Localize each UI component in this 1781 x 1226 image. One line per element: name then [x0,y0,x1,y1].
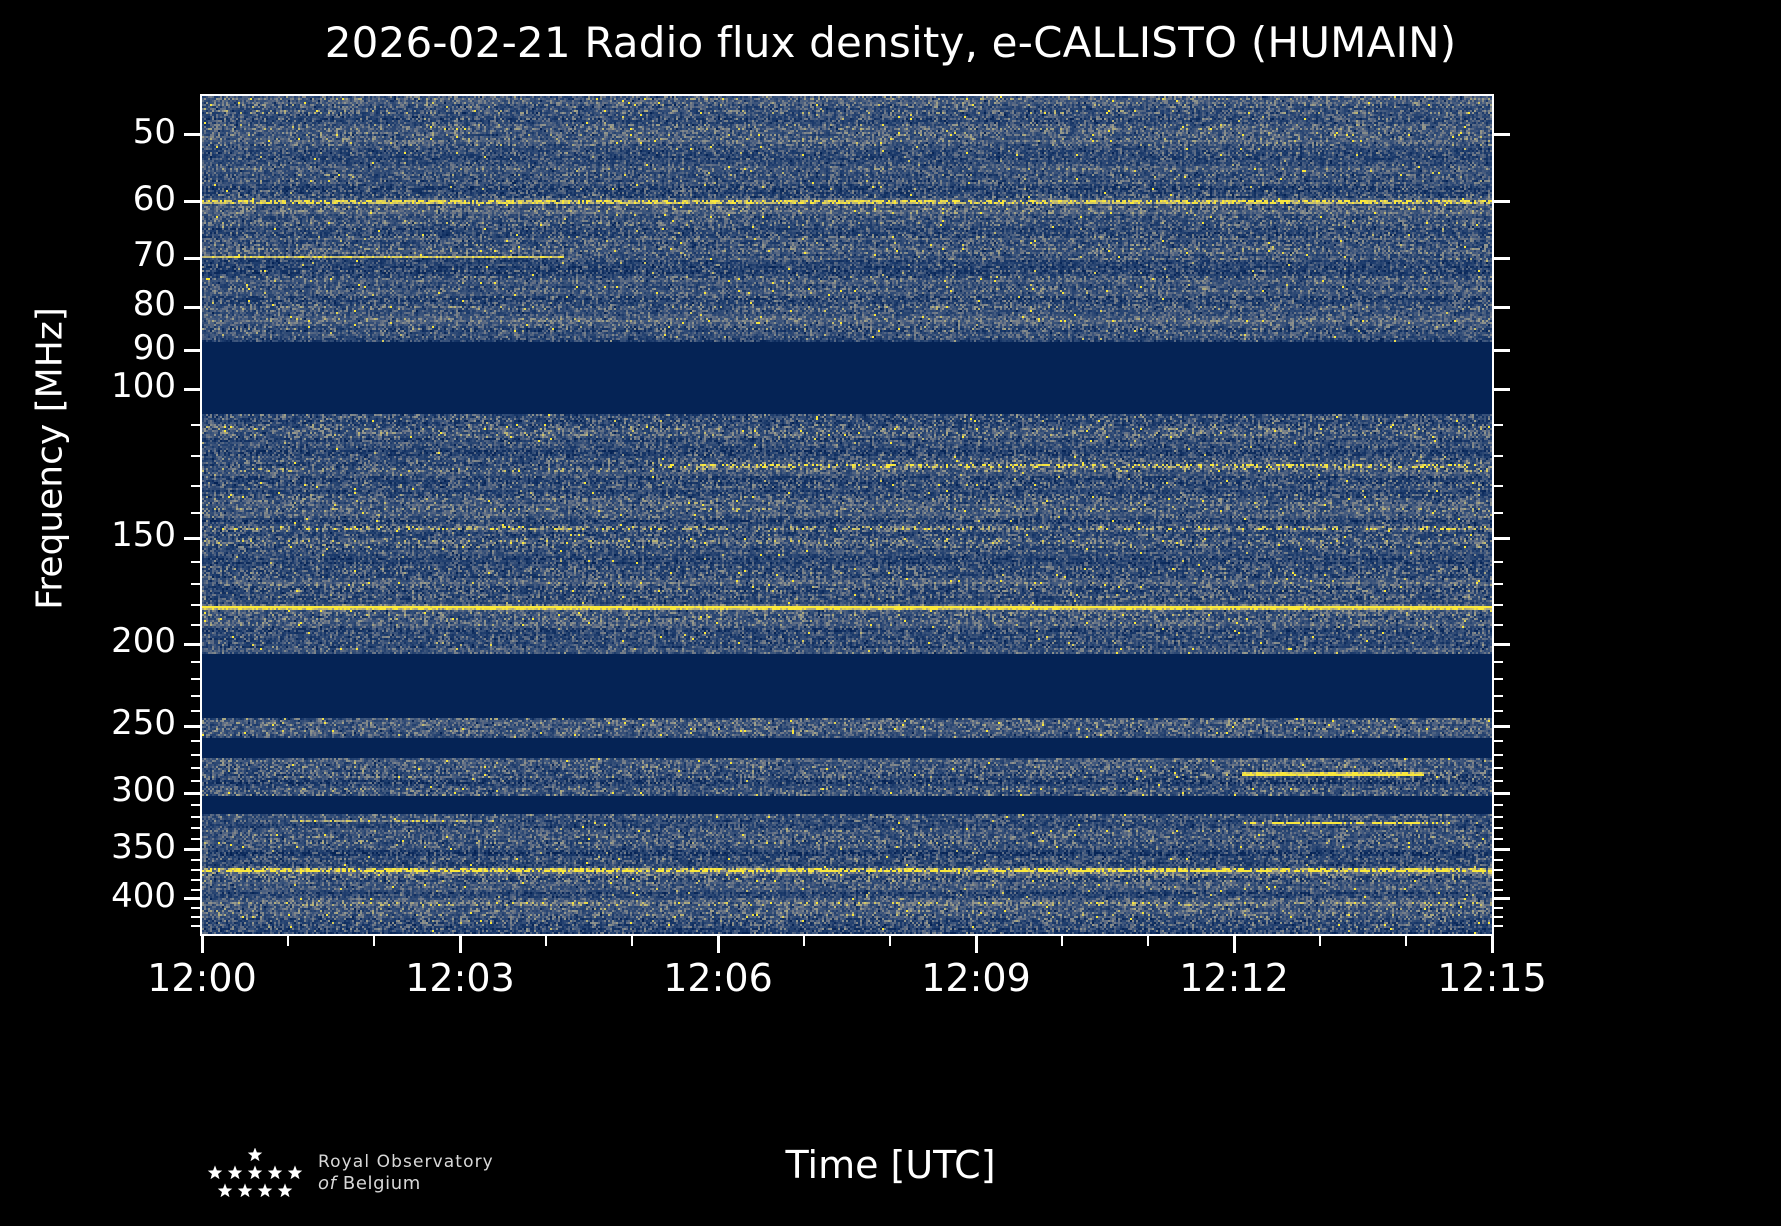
y-minor-tick [1494,869,1503,871]
y-tick-60 [184,200,200,203]
y-tick-right-80 [1494,306,1510,309]
x-tick-12-00 [201,936,204,953]
y-axis-title: Frequency [MHz] [30,79,71,839]
y-minor-tick [1494,624,1503,626]
y-tick-right-90 [1494,349,1510,352]
page-title: 2026-02-21 Radio flux density, e-CALLIST… [0,18,1781,67]
x-minor-tick [1319,936,1321,946]
royal-observatory-logo: Royal Observatory of Belgium [200,1148,620,1210]
axis-spine-right [1492,94,1494,936]
stars-icon [200,1148,310,1206]
y-tick-50 [184,133,200,136]
x-tick-12-06 [717,936,720,953]
x-tick-12-09 [975,936,978,953]
y-minor-tick [191,879,200,881]
y-minor-tick [191,583,200,585]
y-minor-tick [191,816,200,818]
x-minor-tick [545,936,547,946]
y-tick-350 [184,848,200,851]
y-minor-tick [191,838,200,840]
y-tick-90 [184,349,200,352]
y-tick-right-350 [1494,848,1510,851]
y-tick-400 [184,897,200,900]
y-minor-tick [191,859,200,861]
y-tick-label-100: 100 [0,366,176,406]
logo-text: Royal Observatory of Belgium [318,1152,494,1196]
y-tick-label-400: 400 [0,876,176,916]
y-tick-label-150: 150 [0,515,176,555]
y-minor-tick [1494,695,1503,697]
y-tick-label-350: 350 [0,827,176,867]
y-minor-tick [1494,827,1503,829]
y-minor-tick [1494,816,1503,818]
y-tick-label-200: 200 [0,621,176,661]
y-tick-right-300 [1494,792,1510,795]
x-tick-label-12-15: 12:15 [1437,956,1547,1000]
y-minor-tick [1494,925,1503,927]
logo-belgium: Belgium [343,1173,421,1194]
x-minor-tick [803,936,805,946]
x-tick-label-12-00: 12:00 [147,956,257,1000]
y-minor-tick [1494,907,1503,909]
y-minor-tick [191,804,200,806]
y-minor-tick [191,512,200,514]
plot-area [202,96,1492,934]
y-minor-tick [1494,754,1503,756]
y-minor-tick [1494,838,1503,840]
y-minor-tick [191,695,200,697]
y-minor-tick [191,907,200,909]
x-minor-tick [631,936,633,946]
y-tick-right-60 [1494,200,1510,203]
y-minor-tick [1494,740,1503,742]
spectrogram-figure: 2026-02-21 Radio flux density, e-CALLIST… [0,0,1781,1226]
x-tick-label-12-03: 12:03 [405,956,515,1000]
y-minor-tick [191,485,200,487]
y-tick-right-50 [1494,133,1510,136]
y-minor-tick [1494,780,1503,782]
x-tick-label-12-09: 12:09 [921,956,1031,1000]
x-tick-12-03 [459,936,462,953]
y-minor-tick [191,424,200,426]
axis-spine-bottom [200,934,1494,936]
y-tick-right-200 [1494,643,1510,646]
y-minor-tick [191,604,200,606]
y-minor-tick [191,889,200,891]
y-tick-300 [184,792,200,795]
y-minor-tick [191,561,200,563]
y-minor-tick [1494,710,1503,712]
y-minor-tick [1494,804,1503,806]
y-tick-70 [184,257,200,260]
y-minor-tick [1494,561,1503,563]
y-minor-tick [191,624,200,626]
y-tick-right-250 [1494,725,1510,728]
y-minor-tick [191,710,200,712]
y-minor-tick [1494,889,1503,891]
y-minor-tick [191,740,200,742]
y-minor-tick [191,869,200,871]
y-minor-tick [191,916,200,918]
y-minor-tick [1494,661,1503,663]
y-minor-tick [1494,767,1503,769]
y-tick-label-250: 250 [0,703,176,743]
x-minor-tick [287,936,289,946]
y-minor-tick [191,827,200,829]
y-tick-label-60: 60 [0,179,176,219]
x-tick-label-12-12: 12:12 [1179,956,1289,1000]
y-minor-tick [191,455,200,457]
y-minor-tick [1494,512,1503,514]
y-tick-right-100 [1494,388,1510,391]
y-tick-right-400 [1494,897,1510,900]
y-minor-tick [191,661,200,663]
y-minor-tick [1494,678,1503,680]
y-tick-label-50: 50 [0,112,176,152]
y-minor-tick [191,767,200,769]
y-tick-80 [184,306,200,309]
y-minor-tick [1494,916,1503,918]
y-tick-100 [184,388,200,391]
x-minor-tick [1405,936,1407,946]
x-tick-12-12 [1233,936,1236,953]
logo-of: of [318,1173,337,1194]
y-minor-tick [1494,424,1503,426]
logo-line-2: of Belgium [318,1173,494,1196]
x-minor-tick [1147,936,1149,946]
y-tick-right-150 [1494,537,1510,540]
x-minor-tick [1061,936,1063,946]
axis-spine-left [200,94,202,936]
y-tick-label-90: 90 [0,328,176,368]
y-minor-tick [1494,604,1503,606]
axis-spine-top [200,94,1494,96]
y-minor-tick [1494,455,1503,457]
logo-line-1: Royal Observatory [318,1152,494,1173]
x-minor-tick [373,936,375,946]
y-tick-250 [184,725,200,728]
y-tick-150 [184,537,200,540]
y-minor-tick [1494,879,1503,881]
y-tick-label-70: 70 [0,235,176,275]
y-tick-label-80: 80 [0,284,176,324]
y-minor-tick [1494,859,1503,861]
y-tick-label-300: 300 [0,770,176,810]
x-tick-12-15 [1491,936,1494,953]
y-minor-tick [1494,485,1503,487]
y-minor-tick [191,678,200,680]
y-minor-tick [1494,583,1503,585]
y-minor-tick [191,925,200,927]
y-tick-right-70 [1494,257,1510,260]
y-minor-tick [191,780,200,782]
x-minor-tick [889,936,891,946]
x-tick-label-12-06: 12:06 [663,956,773,1000]
spectrogram-canvas [202,96,1492,934]
y-minor-tick [191,754,200,756]
y-tick-200 [184,643,200,646]
